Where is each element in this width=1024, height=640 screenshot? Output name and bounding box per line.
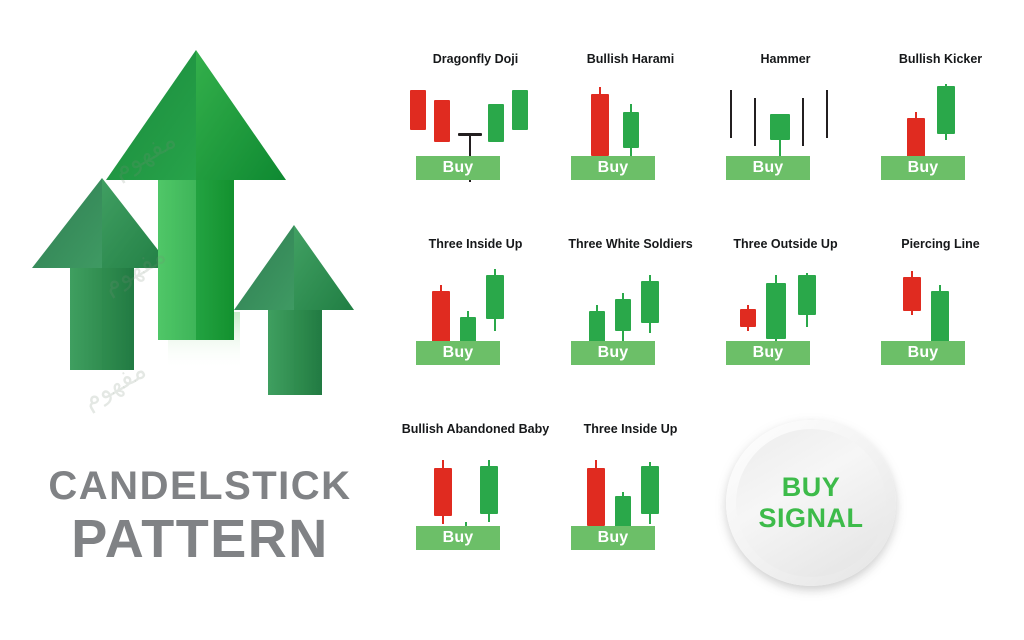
candle-bullish	[512, 82, 528, 182]
candle-body	[512, 90, 528, 130]
pattern-title: Three Outside Up	[708, 237, 863, 267]
buy-button[interactable]: Buy	[571, 526, 655, 550]
pattern-card: Three Outside UpBuy	[708, 237, 863, 367]
candle-body	[432, 291, 450, 345]
candle-body	[480, 466, 498, 514]
candle-body	[458, 133, 482, 136]
title-line-candlestick: CANDELSTICK	[0, 462, 400, 510]
candle-body	[937, 86, 955, 134]
pattern-title: Bullish Abandoned Baby	[398, 422, 553, 452]
pattern-card: Three Inside UpBuy	[398, 237, 553, 367]
title-line-pattern: PATTERN	[0, 510, 400, 568]
candle-body	[903, 277, 921, 311]
pattern-title: Piercing Line	[863, 237, 1018, 267]
pattern-card: Three White SoldiersBuy	[553, 237, 708, 367]
pattern-title: Bullish Harami	[553, 52, 708, 82]
candle-body	[798, 275, 816, 315]
candle-body	[641, 281, 659, 323]
candle-body	[488, 104, 504, 142]
badge-outer-ring: BUY SIGNAL	[726, 420, 896, 586]
buy-button[interactable]: Buy	[416, 341, 500, 365]
candle-body	[587, 468, 605, 526]
candle-body	[434, 468, 452, 516]
buy-button[interactable]: Buy	[726, 341, 810, 365]
candle-body	[434, 100, 450, 142]
price-bar	[730, 90, 732, 138]
candle-body	[641, 466, 659, 514]
buy-button[interactable]: Buy	[416, 156, 500, 180]
buy-button[interactable]: Buy	[881, 341, 965, 365]
buy-button[interactable]: Buy	[726, 156, 810, 180]
pattern-card: Bullish Abandoned BabyBuy	[398, 422, 553, 552]
poster-title: CANDELSTICK PATTERN	[0, 462, 400, 568]
pattern-card: Dragonfly DojiBuy	[398, 52, 553, 182]
pattern-title: Three White Soldiers	[553, 237, 708, 267]
candle-body	[615, 299, 631, 331]
badge-line-signal: SIGNAL	[758, 503, 863, 534]
pattern-title: Three Inside Up	[398, 237, 553, 267]
poster-canvas: مفهوم مفهوم مفهوم CANDELSTICK PATTERN Dr…	[0, 0, 1024, 640]
candle-body	[623, 112, 639, 148]
pattern-card: Piercing LineBuy	[863, 237, 1018, 367]
candle-body	[591, 94, 609, 156]
pattern-title: Three Inside Up	[553, 422, 708, 452]
pattern-card: Bullish KickerBuy	[863, 52, 1018, 182]
candle-body	[615, 496, 631, 528]
buy-signal-badge[interactable]: BUY SIGNAL	[726, 420, 904, 592]
buy-button[interactable]: Buy	[571, 341, 655, 365]
candle-body	[486, 275, 504, 319]
candle-body	[931, 291, 949, 343]
buy-button[interactable]: Buy	[571, 156, 655, 180]
hero-panel: مفهوم مفهوم مفهوم CANDELSTICK PATTERN	[0, 0, 400, 640]
badge-inner-disc: BUY SIGNAL	[736, 429, 886, 577]
candle-body	[410, 90, 426, 130]
pattern-card: Three Inside UpBuy	[553, 422, 708, 552]
candle-body	[740, 309, 756, 327]
candle-body	[770, 114, 790, 140]
pattern-grid: Dragonfly DojiBuyBullish HaramiBuyHammer…	[398, 52, 1018, 612]
three-up-arrows-graphic: مفهوم مفهوم مفهوم	[18, 40, 388, 450]
badge-line-buy: BUY	[782, 472, 841, 503]
price-bar	[754, 98, 756, 146]
price-bar	[802, 98, 804, 146]
pattern-title: Dragonfly Doji	[398, 52, 553, 82]
pattern-card: HammerBuy	[708, 52, 863, 182]
buy-button[interactable]: Buy	[881, 156, 965, 180]
pattern-card: Bullish HaramiBuy	[553, 52, 708, 182]
pattern-title: Bullish Kicker	[863, 52, 1018, 82]
price-bar	[826, 90, 828, 138]
buy-button[interactable]: Buy	[416, 526, 500, 550]
pattern-title: Hammer	[708, 52, 863, 82]
candle-body	[766, 283, 786, 339]
